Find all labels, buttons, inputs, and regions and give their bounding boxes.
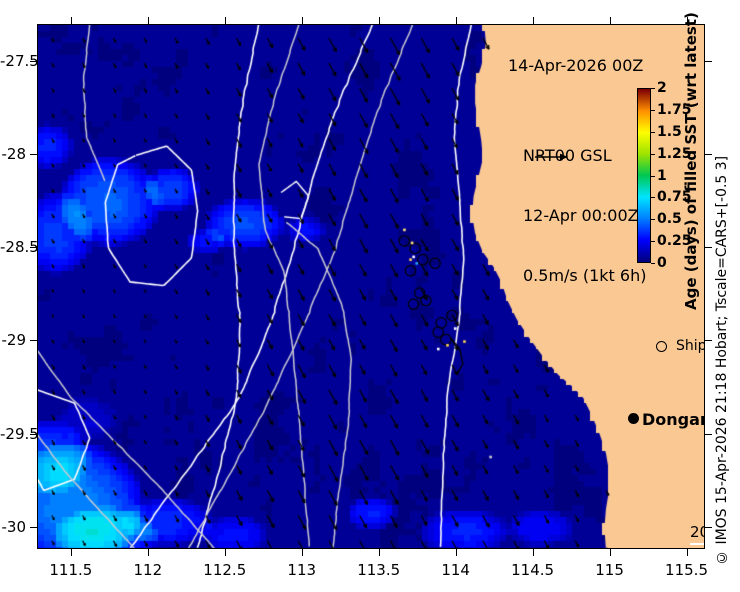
- x-axis-tick: [379, 17, 380, 24]
- x-axis-label: 113: [287, 561, 316, 579]
- y-axis-label: -29.5: [0, 425, 26, 443]
- model-info-label: NRT00 GSL 12-Apr 00:00Z 0.5m/s (1kt 6h): [523, 106, 646, 326]
- colorbar-title: Age (days) of filled SST (wrt latest): [679, 30, 703, 292]
- colorbar-tick-label: 1: [657, 168, 667, 184]
- x-axis-tick: [456, 549, 457, 556]
- x-axis-tick: [533, 17, 534, 24]
- y-axis-tick: [705, 154, 712, 155]
- colorbar-tick-label: 2: [657, 80, 667, 96]
- x-axis-tick: [610, 17, 611, 24]
- x-axis-tick: [302, 17, 303, 24]
- colorbar-tick: [651, 88, 655, 89]
- x-axis-label: 114.5: [511, 561, 554, 579]
- x-axis-label: 115: [595, 561, 624, 579]
- x-axis-tick: [148, 549, 149, 556]
- ship-marker-icon: [656, 341, 667, 352]
- y-axis-label: -27.5: [0, 52, 26, 70]
- colorbar-tick: [651, 154, 655, 155]
- colorbar-tick: [651, 241, 655, 242]
- depth-contour-legend: 200m 1000m: [690, 522, 705, 549]
- x-axis-tick: [456, 17, 457, 24]
- model-time-label: 12-Apr 00:00Z: [523, 206, 646, 226]
- ship-legend: Ship: [656, 338, 705, 354]
- x-axis-label: 111.5: [49, 561, 92, 579]
- y-axis-label: -30: [0, 518, 26, 536]
- y-axis-label: -28: [0, 145, 26, 163]
- date-stamp-label: 14-Apr-2026 00Z: [508, 56, 643, 75]
- y-axis-tick: [705, 434, 712, 435]
- dongara-location-marker: [628, 413, 639, 424]
- x-axis-tick: [379, 549, 380, 556]
- colorbar-tick: [651, 197, 655, 198]
- ship-legend-label: Ship: [676, 338, 705, 354]
- x-axis-tick: [610, 549, 611, 556]
- colorbar-tick: [651, 176, 655, 177]
- y-axis-tick: [705, 340, 712, 341]
- colorbar-tick: [651, 263, 655, 264]
- vector-scale-label: 0.5m/s (1kt 6h): [523, 266, 646, 286]
- map-plot-area: 14-Apr-2026 00Z NRT00 GSL 12-Apr 00:00Z …: [37, 24, 705, 549]
- x-axis-label: 112: [133, 561, 162, 579]
- x-axis-tick: [533, 549, 534, 556]
- depth-1000m-label: 1000m: [690, 546, 705, 549]
- x-axis-label: 114: [441, 561, 470, 579]
- dongara-place-label: Dongara: [642, 410, 705, 429]
- y-axis-tick: [30, 340, 37, 341]
- x-axis-tick: [225, 549, 226, 556]
- x-axis-tick: [148, 17, 149, 24]
- x-axis-label: 115.5: [665, 561, 708, 579]
- colorbar-tick: [651, 219, 655, 220]
- y-axis-tick: [30, 527, 37, 528]
- x-axis-tick: [71, 549, 72, 556]
- colorbar-gradient: [637, 88, 651, 263]
- credit-text: © IMOS 15-Apr-2026 21:18 Hobart; Tscale=…: [714, 175, 736, 565]
- y-axis-label: -28.5: [0, 238, 26, 256]
- colorbar-tick: [651, 110, 655, 111]
- colorbar-tick: [651, 132, 655, 133]
- vector-reference-arrow-icon: [534, 151, 568, 163]
- x-axis-tick: [71, 17, 72, 24]
- y-axis-label: -29: [0, 331, 26, 349]
- y-axis-tick: [705, 61, 712, 62]
- y-axis-tick: [30, 154, 37, 155]
- depth-200m-label: 200m: [690, 522, 705, 545]
- colorbar-tick-label: 0: [657, 255, 667, 271]
- x-axis-tick: [225, 17, 226, 24]
- x-axis-label: 112.5: [203, 561, 246, 579]
- x-axis-label: 113.5: [357, 561, 400, 579]
- y-axis-tick: [705, 527, 712, 528]
- y-axis-tick: [705, 247, 712, 248]
- x-axis-tick: [302, 549, 303, 556]
- x-axis-tick: [687, 549, 688, 556]
